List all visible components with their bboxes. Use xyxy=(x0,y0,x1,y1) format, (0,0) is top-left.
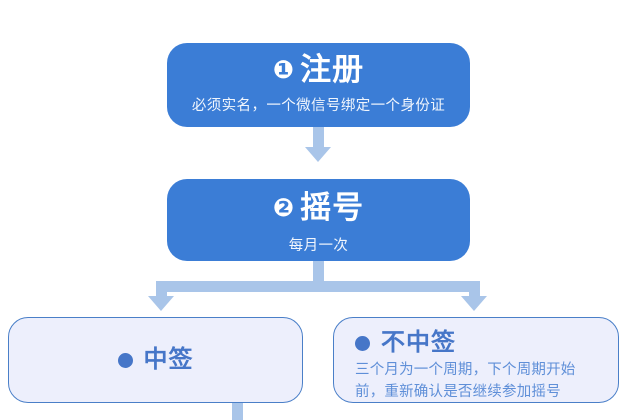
outcome-not-win-inner: 不中签 三个月为一个周期，下个周期开始 前，重新确认是否继续参加摇号 xyxy=(334,318,618,403)
outcome-box-win[interactable]: 中签 xyxy=(8,317,303,403)
step-box-register[interactable]: ❶注册 必须实名，一个微信号绑定一个身份证 xyxy=(167,43,470,127)
connector-lottery-branch-bar xyxy=(156,281,480,292)
step-register-subtitle: 必须实名，一个微信号绑定一个身份证 xyxy=(167,97,470,116)
step-lottery-title-row: ❷摇号 xyxy=(167,191,470,226)
step-register-title: 注册 xyxy=(300,52,364,87)
outcome-not-win-head: 不中签 xyxy=(355,330,618,356)
step-lottery-number: ❷ xyxy=(273,194,295,222)
connector-branch-right-arrowhead xyxy=(461,296,487,311)
step-register-number: ❶ xyxy=(273,56,295,84)
step-lottery-title: 摇号 xyxy=(300,190,364,225)
step-register-title-row: ❶注册 xyxy=(167,53,470,88)
outcome-box-not-win[interactable]: 不中签 三个月为一个周期，下个周期开始 前，重新确认是否继续参加摇号 xyxy=(333,317,619,403)
bullet-icon xyxy=(355,336,370,351)
connector-register-to-lottery-stem xyxy=(313,127,324,149)
outcome-not-win-subtitle-line2: 前，重新确认是否继续参加摇号 xyxy=(355,382,618,403)
flowchart: ❶注册 必须实名，一个微信号绑定一个身份证 ❷摇号 每月一次 中签 不中签 三个… xyxy=(0,0,627,420)
connector-register-to-lottery-arrowhead xyxy=(305,147,331,162)
outcome-not-win-title: 不中签 xyxy=(381,330,456,356)
outcome-not-win-subtitle: 三个月为一个周期，下个周期开始 前，重新确认是否继续参加摇号 xyxy=(355,360,618,403)
outcome-win-title: 中签 xyxy=(144,347,194,373)
connector-win-outgoing-stem xyxy=(232,401,243,420)
step-box-lottery[interactable]: ❷摇号 每月一次 xyxy=(167,179,470,261)
outcome-not-win-subtitle-line1: 三个月为一个周期，下个周期开始 xyxy=(355,360,618,381)
bullet-icon xyxy=(118,353,133,368)
connector-branch-left-arrowhead xyxy=(148,296,174,311)
outcome-win-head: 中签 xyxy=(9,318,302,402)
step-lottery-subtitle: 每月一次 xyxy=(167,237,470,256)
